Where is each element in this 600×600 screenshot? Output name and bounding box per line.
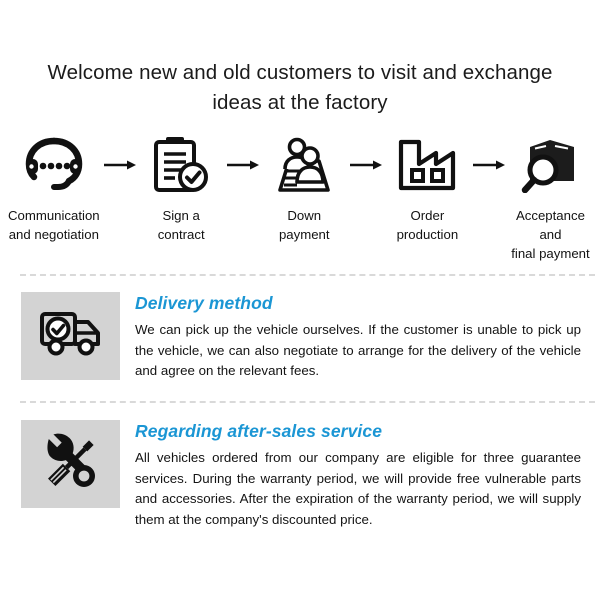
section-title: Delivery method xyxy=(135,292,581,314)
flow-step-communication: Communication and negotiation xyxy=(8,134,100,244)
page-title: Welcome new and old customers to visit a… xyxy=(40,58,560,118)
flow-step-down-payment: Down payment xyxy=(263,134,346,244)
package-inspection-icon xyxy=(521,134,579,196)
contract-checkmark-icon xyxy=(153,134,209,196)
flow-step-acceptance: Acceptance and final payment xyxy=(509,134,592,263)
delivery-truck-icon-tile xyxy=(21,292,120,380)
section-title: Regarding after-sales service xyxy=(135,420,581,442)
wrench-screwdriver-icon-tile xyxy=(21,420,120,508)
section-body: Regarding after-sales service All vehicl… xyxy=(135,420,581,530)
factory-icon xyxy=(398,134,456,196)
section-after-sales-service: Regarding after-sales service All vehicl… xyxy=(21,420,581,530)
flow-step-label: Acceptance and final payment xyxy=(509,206,592,263)
section-divider xyxy=(20,401,595,403)
arrow-right-icon xyxy=(100,134,140,196)
section-paragraph: All vehicles ordered from our company ar… xyxy=(135,448,581,530)
arrow-right-icon xyxy=(223,134,263,196)
section-paragraph: We can pick up the vehicle ourselves. If… xyxy=(135,320,581,382)
section-delivery-method: Delivery method We can pick up the vehic… xyxy=(21,292,581,382)
section-divider xyxy=(20,274,595,276)
flow-step-label: Sign a contract xyxy=(158,206,205,244)
people-deposit-icon xyxy=(275,134,333,196)
flow-step-production: Order production xyxy=(386,134,469,244)
arrow-right-icon xyxy=(346,134,386,196)
wrench-screwdriver-icon xyxy=(40,431,102,498)
headset-support-icon xyxy=(23,134,85,196)
process-flow: Communication and negotiation xyxy=(8,134,592,263)
section-body: Delivery method We can pick up the vehic… xyxy=(135,292,581,382)
flow-step-label: Order production xyxy=(397,206,459,244)
info-graphic-page: Welcome new and old customers to visit a… xyxy=(0,0,600,600)
flow-step-label: Down payment xyxy=(279,206,330,244)
flow-step-contract: Sign a contract xyxy=(140,134,223,244)
flow-step-label: Communication and negotiation xyxy=(8,206,100,244)
delivery-truck-icon xyxy=(39,309,103,364)
arrow-right-icon xyxy=(469,134,509,196)
